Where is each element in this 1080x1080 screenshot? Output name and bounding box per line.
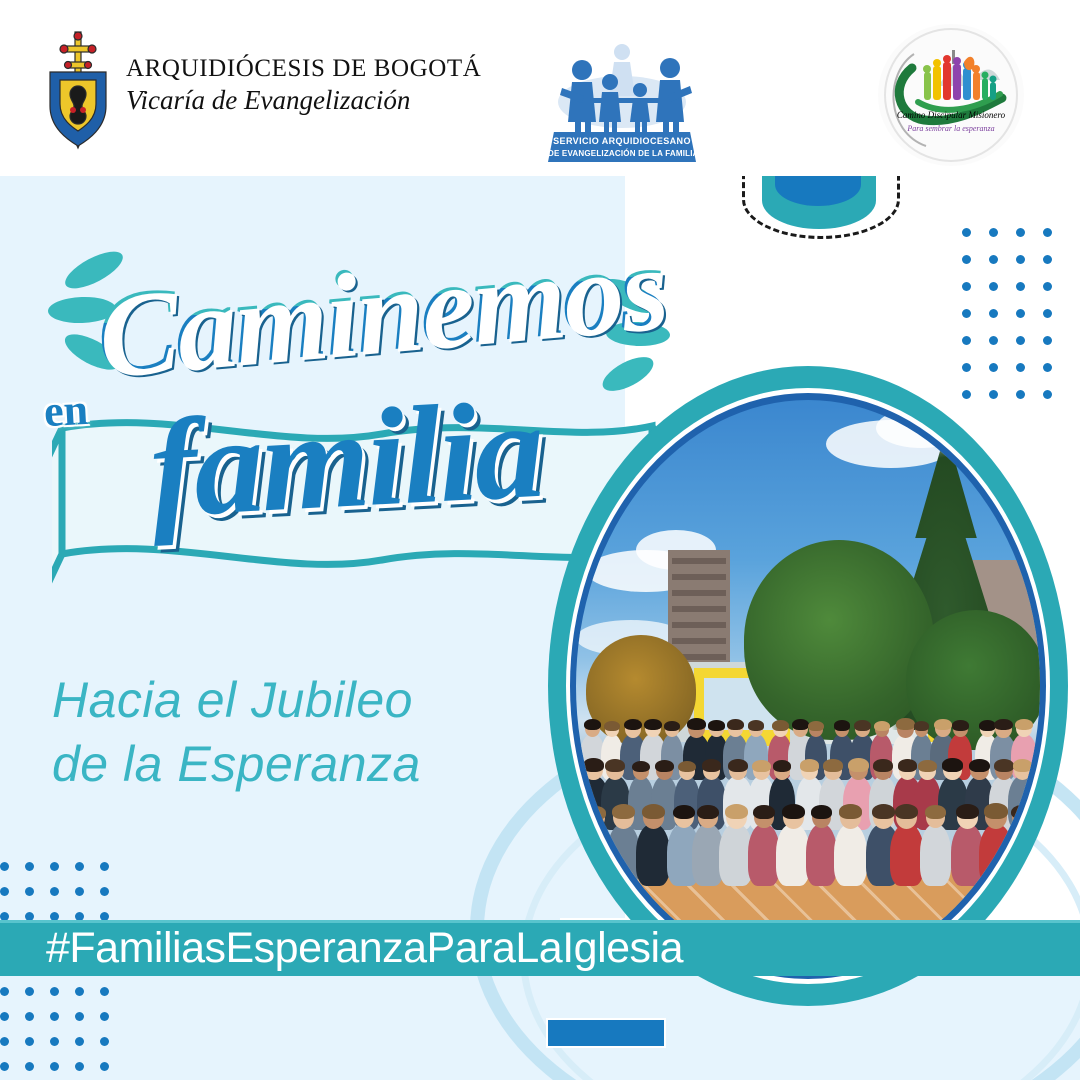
camino-discipular-logo: Camino Discipular Misionero Para sembrar…: [878, 24, 1024, 166]
family-silhouettes-icon: [548, 42, 696, 134]
diocese-line-1: ARQUIDIÓCESIS DE BOGOTÁ: [126, 56, 456, 81]
camino-discipular-icon: [878, 24, 1024, 166]
header-logo-bar: ARQUIDIÓCESIS DE BOGOTÁ Vicaría de Evang…: [0, 0, 1080, 176]
wordmark-familia: familia: [147, 380, 545, 540]
wordmark-en: en: [43, 384, 90, 437]
flyer-canvas: Caminemos en familia Hacia el Jubileo de…: [0, 0, 1080, 1080]
subtitle-line-2: de la Esperanza: [52, 732, 421, 796]
diocese-line-2: Vicaría de Evangelización: [126, 87, 456, 114]
diocese-title: ARQUIDIÓCESIS DE BOGOTÁ Vicaría de Evang…: [126, 56, 456, 114]
cdm-line-2: Para sembrar la esperanza: [878, 124, 1024, 133]
subtitle: Hacia el Jubileo de la Esperanza: [52, 668, 421, 796]
subtitle-line-1: Hacia el Jubileo: [52, 668, 421, 732]
family-logo-line-2: DE EVANGELIZACIÓN DE LA FAMILIA: [548, 149, 696, 158]
family-logo-line-1: SERVICIO ARQUIDIOCESANO: [548, 136, 696, 146]
family-evangelization-logo: SERVICIO ARQUIDIOCESANO DE EVANGELIZACIÓ…: [548, 42, 708, 162]
hashtag-text: #FamiliasEsperanzaParaLaIglesia: [46, 922, 683, 974]
blue-rectangle-accent: [546, 1018, 666, 1048]
wordmark: Caminemos en familia: [0, 170, 700, 590]
archdiocese-coat-of-arms-icon: [42, 22, 114, 154]
cdm-line-1: Camino Discipular Misionero: [878, 110, 1024, 120]
